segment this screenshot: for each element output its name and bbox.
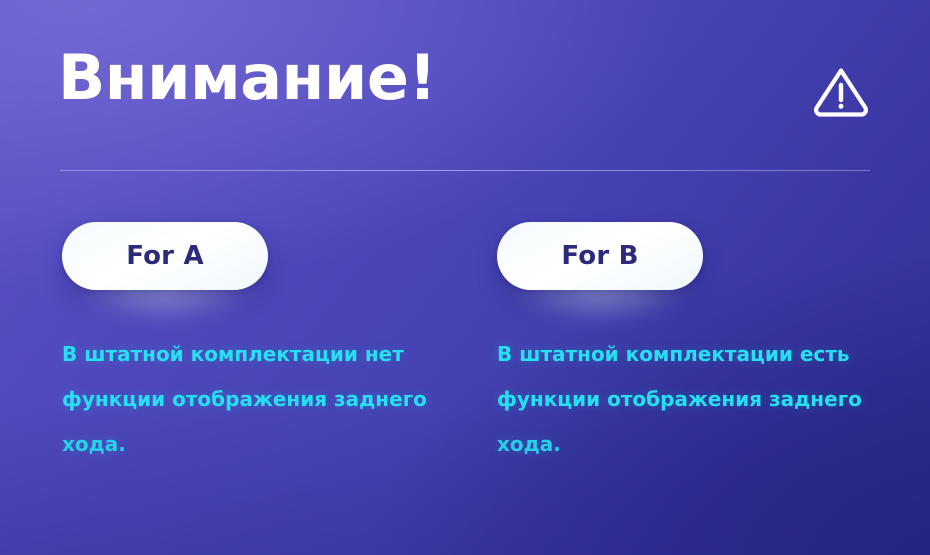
warning-slide: Внимание! For A В штатной комплектации н… [0, 0, 930, 555]
for-a-description: В штатной комплектации нет функции отобр… [62, 332, 444, 467]
comparison-columns: For A В штатной комплектации нет функции… [0, 0, 930, 555]
pill-wrapper-for-a: For A [62, 218, 268, 290]
for-a-button[interactable]: For A [62, 222, 268, 290]
for-a-button-label: For A [126, 241, 204, 271]
for-b-description: В штатной комплектации есть функции отоб… [497, 332, 887, 467]
for-b-button[interactable]: For B [497, 222, 703, 290]
column-for-a: For A В штатной комплектации нет функции… [62, 218, 462, 487]
pill-wrapper-for-b: For B [497, 218, 703, 290]
for-b-button-label: For B [561, 241, 638, 271]
column-for-b: For B В штатной комплектации есть функци… [497, 218, 897, 487]
